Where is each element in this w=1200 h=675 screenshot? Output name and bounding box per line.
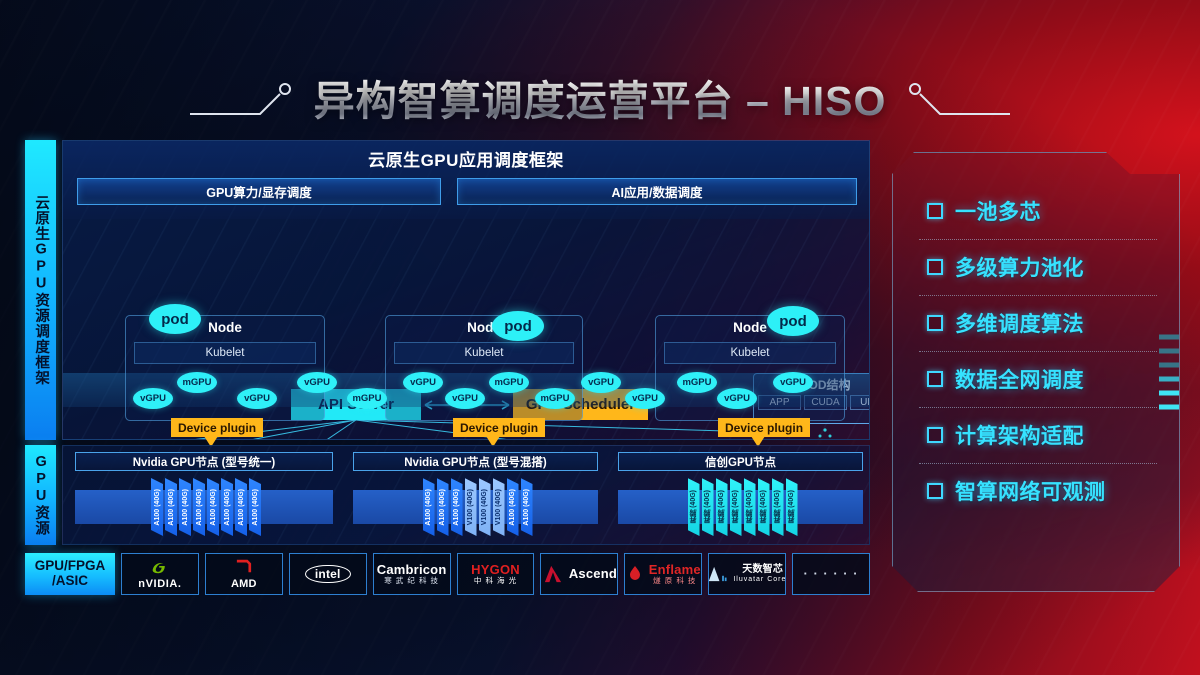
gpu-node-group-title: Nvidia GPU节点 (型号混搭) xyxy=(353,452,598,471)
vendor-amd[interactable]: AMD xyxy=(205,553,283,595)
gpu-card[interactable]: 昇腾 (40G) xyxy=(786,478,798,536)
gpu-instance-vgpu-0-2[interactable]: vGPU xyxy=(237,388,277,409)
gpu-card[interactable]: V100 (40G) xyxy=(479,478,491,536)
pod-node-2[interactable]: pod xyxy=(492,311,544,341)
gpu-card-label: A100 (40G) xyxy=(182,489,189,526)
vendor-name: intel xyxy=(305,565,351,584)
sidebar-label-vendor: GPU/FPGA /ASIC xyxy=(25,553,115,595)
gpu-instance-vgpu-2-1[interactable]: vGPU xyxy=(717,388,757,409)
pod-node-3[interactable]: pod xyxy=(767,306,819,336)
gpu-node-group-body: A100 (40G)A100 (40G)A100 (40G)A100 (40G)… xyxy=(75,478,333,536)
vendor-enflame[interactable]: Enflame燧 原 科 技 xyxy=(624,553,702,595)
framework-title: 云原生GPU应用调度框架 xyxy=(63,146,869,171)
vendor-text: intel xyxy=(305,565,351,584)
gpu-card-label: A100 (40G) xyxy=(168,489,175,526)
gpu-card[interactable]: V100 (40G) xyxy=(493,478,505,536)
vendor-name: HYGON xyxy=(471,563,520,577)
feature-item-0[interactable]: 一池多芯 xyxy=(893,183,1179,239)
device-plugin-3[interactable]: Device plugin xyxy=(718,418,810,437)
vendor-subtitle: Iluvatar CoreX xyxy=(733,576,786,583)
feature-label: 多级算力池化 xyxy=(955,252,1084,282)
gpu-instance-mgpu-0-4[interactable]: mGPU xyxy=(347,388,387,409)
checkbox-icon xyxy=(927,203,943,219)
feature-label: 多维调度算法 xyxy=(955,308,1084,338)
gpu-card-label: A100 (40G) xyxy=(252,489,259,526)
feature-label: 智算网络可观测 xyxy=(955,476,1106,506)
gpu-node-group-body: 昇腾 (40G)昇腾 (40G)昇腾 (40G)昇腾 (40G)昇腾 (40G)… xyxy=(618,478,863,536)
vendor-ascend[interactable]: Ascend xyxy=(540,553,618,595)
kubelet-bar: Kubelet xyxy=(664,342,836,364)
checkbox-icon xyxy=(927,315,943,331)
feature-item-4[interactable]: 计算架构适配 xyxy=(893,407,1179,463)
amd-logo xyxy=(235,558,253,574)
gpu-card[interactable]: A100 (40G) xyxy=(221,478,233,536)
kubelet-bar: Kubelet xyxy=(394,342,574,364)
iluvatar-logo xyxy=(708,566,728,582)
gpu-card-label: A100 (40G) xyxy=(453,489,460,526)
gpu-card-label: A100 (40G) xyxy=(238,489,245,526)
vendor-text: · · · · · · xyxy=(804,567,859,581)
architecture-diagram: 云原生GPU资源调度框架 GPU资源 云原生GPU应用调度框架 GPU算力/显存… xyxy=(25,140,870,600)
gpu-card[interactable]: A100 (40G) xyxy=(249,478,261,536)
gpu-resource-panel: Nvidia GPU节点 (型号统一)A100 (40G)A100 (40G)A… xyxy=(62,445,870,545)
gpu-card[interactable]: A100 (40G) xyxy=(207,478,219,536)
vendor-name: · · · · · · xyxy=(804,567,859,581)
gpu-instance-vgpu-2-2[interactable]: vGPU xyxy=(773,372,813,393)
vendor-logo-strip: GPU/FPGA /ASIC nVIDIA.AMDintelCambricon寒… xyxy=(25,553,870,595)
feature-item-2[interactable]: 多维调度算法 xyxy=(893,295,1179,351)
feature-list-panel: 一池多芯多级算力池化多维调度算法数据全网调度计算架构适配智算网络可观测 xyxy=(892,152,1180,592)
gpu-node-group-3: 信创GPU节点昇腾 (40G)昇腾 (40G)昇腾 (40G)昇腾 (40G)昇… xyxy=(618,452,863,540)
gpu-card-label: V100 (40G) xyxy=(481,489,488,525)
vendor-subtitle: 中 科 海 光 xyxy=(474,577,517,585)
gpu-card[interactable]: A100 (40G) xyxy=(423,478,435,536)
gpu-card-label: 昇腾 (40G) xyxy=(773,490,783,524)
gpu-card[interactable]: A100 (40G) xyxy=(179,478,191,536)
gpu-instance-vgpu-1-4[interactable]: vGPU xyxy=(581,372,621,393)
gpu-card[interactable]: A100 (40G) xyxy=(235,478,247,536)
gpu-card-label: 昇腾 (40G) xyxy=(759,490,769,524)
vendor-text: Enflame燧 原 科 技 xyxy=(649,563,701,585)
gpu-card-label: V100 (40G) xyxy=(467,489,474,525)
gpu-instance-mgpu-1-3[interactable]: mGPU xyxy=(535,388,575,409)
gpu-card[interactable]: A100 (40G) xyxy=(165,478,177,536)
checkbox-icon xyxy=(927,259,943,275)
sidebar-label-gpu-resource: GPU资源 xyxy=(25,445,56,545)
gpu-node-group-body: A100 (40G)A100 (40G)A100 (40G)V100 (40G)… xyxy=(353,478,598,536)
vendor-more[interactable]: · · · · · · xyxy=(792,553,870,595)
feature-item-3[interactable]: 数据全网调度 xyxy=(893,351,1179,407)
vendor-hygon[interactable]: HYGON中 科 海 光 xyxy=(457,553,535,595)
gpu-node-group-2: Nvidia GPU节点 (型号混搭)A100 (40G)A100 (40G)A… xyxy=(353,452,598,540)
gpu-card[interactable]: A100 (40G) xyxy=(507,478,519,536)
gpu-card-label: A100 (40G) xyxy=(523,489,530,526)
sidebar-label-framework: 云原生GPU资源调度框架 xyxy=(25,140,56,440)
page-title: 异构智算调度运营平台 – HISO xyxy=(314,67,887,127)
gpu-card[interactable]: 昇腾 (40G) xyxy=(702,478,714,536)
gpu-card-label: A100 (40G) xyxy=(509,489,516,526)
vendor-iluvatar[interactable]: 天数智芯Iluvatar CoreX xyxy=(708,553,786,595)
gpu-instance-vgpu-0-0[interactable]: vGPU xyxy=(133,388,173,409)
vendor-name: 天数智芯 xyxy=(742,565,783,576)
gpu-card[interactable]: 昇腾 (40G) xyxy=(758,478,770,536)
gpu-node-group-1: Nvidia GPU节点 (型号统一)A100 (40G)A100 (40G)A… xyxy=(75,452,333,540)
feature-label: 数据全网调度 xyxy=(955,364,1084,394)
vendor-label-line1: GPU/FPGA xyxy=(35,559,106,574)
vendor-name: Ascend xyxy=(569,567,617,581)
gpu-card-label: 昇腾 (40G) xyxy=(703,490,713,524)
gpu-card[interactable]: A100 (40G) xyxy=(437,478,449,536)
vendor-nvidia[interactable]: nVIDIA. xyxy=(121,553,199,595)
nvidia-logo xyxy=(150,558,170,574)
device-plugin-2[interactable]: Device plugin xyxy=(453,418,545,437)
framework-pill-compute[interactable]: GPU算力/显存调度 xyxy=(77,178,441,205)
gpu-card-label: 昇腾 (40G) xyxy=(787,490,797,524)
checkbox-icon xyxy=(927,427,943,443)
gpu-card[interactable]: A100 (40G) xyxy=(521,478,533,536)
vendor-label-line2: /ASIC xyxy=(52,574,88,589)
node-title: Node xyxy=(386,320,582,335)
gpu-instance-mgpu-2-0[interactable]: mGPU xyxy=(677,372,717,393)
title-decor-right xyxy=(902,74,1012,120)
vendor-text: AMD xyxy=(231,579,257,591)
gpu-card-label: A100 (40G) xyxy=(224,489,231,526)
gpu-card-label: A100 (40G) xyxy=(439,489,446,526)
vendor-name: AMD xyxy=(231,579,257,591)
vendor-name: nVIDIA. xyxy=(138,579,181,591)
gpu-card[interactable]: V100 (40G) xyxy=(465,478,477,536)
checkbox-icon xyxy=(927,371,943,387)
device-plugin-1[interactable]: Device plugin xyxy=(171,418,263,437)
gpu-instance-vgpu-1-1[interactable]: vGPU xyxy=(445,388,485,409)
enflame-logo xyxy=(626,565,644,583)
vendor-cambricon[interactable]: Cambricon寒 武 纪 科 技 xyxy=(373,553,451,595)
gpu-node-group-title: 信创GPU节点 xyxy=(618,452,863,471)
vendor-name: Cambricon xyxy=(377,563,447,577)
gpu-card-label: V100 (40G) xyxy=(495,489,502,525)
title-decor-left xyxy=(188,74,298,120)
framework-panel: 云原生GPU应用调度框架 GPU算力/显存调度 AI应用/数据调度 xyxy=(62,140,870,440)
gpu-card-label: A100 (40G) xyxy=(425,489,432,526)
vendor-name: Enflame xyxy=(649,563,701,577)
gpu-instance-vgpu-1-0[interactable]: vGPU xyxy=(403,372,443,393)
gpu-card-label: 昇腾 (40G) xyxy=(689,490,699,524)
checkbox-icon xyxy=(927,483,943,499)
gpu-instance-mgpu-0-1[interactable]: mGPU xyxy=(177,372,217,393)
gpu-card-label: A100 (40G) xyxy=(154,489,161,526)
feature-item-1[interactable]: 多级算力池化 xyxy=(893,239,1179,295)
gpu-card[interactable]: 昇腾 (40G) xyxy=(716,478,728,536)
gpu-card[interactable]: A100 (40G) xyxy=(193,478,205,536)
gpu-card[interactable]: 昇腾 (40G) xyxy=(744,478,756,536)
gpu-card-label: A100 (40G) xyxy=(210,489,217,526)
gpu-card-label: 昇腾 (40G) xyxy=(731,490,741,524)
gpu-instance-vgpu-0-3[interactable]: vGPU xyxy=(297,372,337,393)
gpu-card[interactable]: A100 (40G) xyxy=(151,478,163,536)
gpu-instance-vgpu-1-5[interactable]: vGPU xyxy=(625,388,665,409)
vendor-text: HYGON中 科 海 光 xyxy=(471,563,520,585)
gpu-node-group-title: Nvidia GPU节点 (型号统一) xyxy=(75,452,333,471)
vendor-text: 天数智芯Iluvatar CoreX xyxy=(733,565,786,583)
framework-pill-ai[interactable]: AI应用/数据调度 xyxy=(457,178,857,205)
vendor-text: Cambricon寒 武 纪 科 技 xyxy=(377,563,447,585)
gpu-card[interactable]: 昇腾 (40G) xyxy=(730,478,742,536)
pod-node-1[interactable]: pod xyxy=(149,304,201,334)
gpu-card[interactable]: 昇腾 (40G) xyxy=(772,478,784,536)
ascend-logo xyxy=(542,565,564,583)
vendor-subtitle: 燧 原 科 技 xyxy=(653,577,696,585)
kubelet-bar: Kubelet xyxy=(134,342,316,364)
vendor-text: nVIDIA. xyxy=(138,579,181,591)
gpu-card-label: A100 (40G) xyxy=(196,489,203,526)
page-title-bar: 异构智算调度运营平台 – HISO xyxy=(0,62,1200,132)
gpu-card-label: 昇腾 (40G) xyxy=(717,490,727,524)
vendor-text: Ascend xyxy=(569,567,617,581)
gpu-card[interactable]: 昇腾 (40G) xyxy=(688,478,700,536)
feature-item-5[interactable]: 智算网络可观测 xyxy=(893,463,1179,519)
vendor-intel[interactable]: intel xyxy=(289,553,367,595)
gpu-card[interactable]: A100 (40G) xyxy=(451,478,463,536)
feature-label: 一池多芯 xyxy=(955,196,1041,226)
gpu-card-label: 昇腾 (40G) xyxy=(745,490,755,524)
gpu-instance-mgpu-1-2[interactable]: mGPU xyxy=(489,372,529,393)
feature-label: 计算架构适配 xyxy=(955,420,1084,450)
vendor-subtitle: 寒 武 纪 科 技 xyxy=(384,577,439,585)
